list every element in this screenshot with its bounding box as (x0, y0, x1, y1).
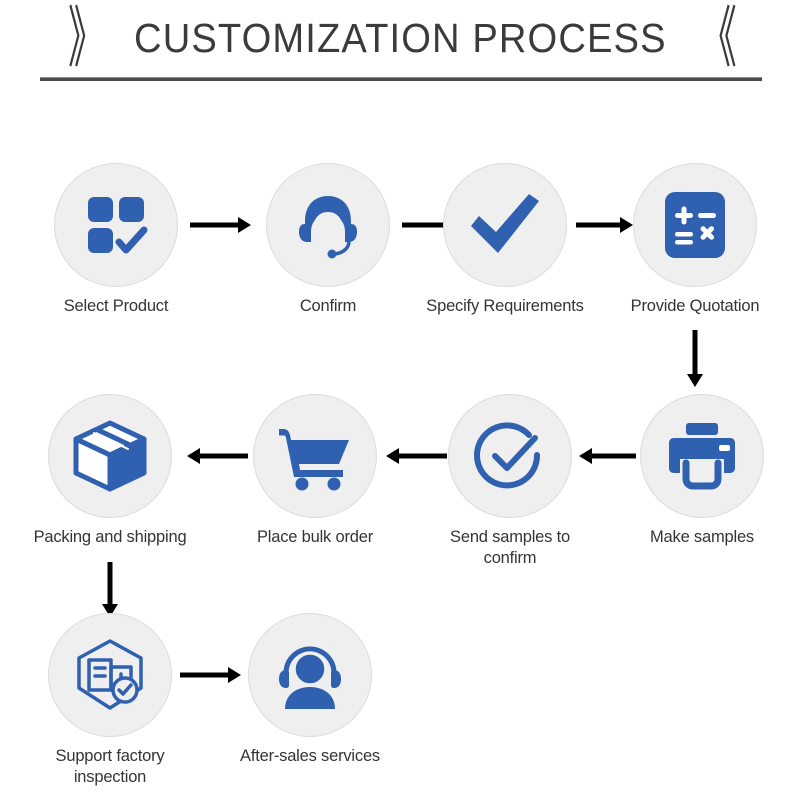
step-label: Support factory inspection (30, 746, 190, 787)
step-icon-circle (253, 394, 377, 518)
step-icon-circle (640, 394, 764, 518)
step-label: Send samples to confirm (430, 527, 590, 568)
double-chevron-right-icon: 》 (68, 5, 100, 72)
step-label: After-sales services (230, 746, 390, 767)
step-node-after-sales-services: After-sales services (230, 613, 390, 767)
step-icon-circle (48, 613, 172, 737)
step-label: Confirm (248, 296, 408, 317)
step-icon-circle (248, 613, 372, 737)
title-divider (40, 77, 762, 81)
page-header: 》 CUSTOMIZATION PROCESS 《 (0, 0, 800, 90)
step-node-confirm: Confirm (248, 163, 408, 317)
package-box-icon (72, 419, 148, 493)
step-node-make-samples: Make samples (622, 394, 782, 548)
step-node-send-samples-to-confirm: Send samples to confirm (430, 394, 590, 568)
shopping-cart-icon (277, 421, 353, 491)
connector-arrow-down (683, 330, 707, 388)
step-icon-circle (48, 394, 172, 518)
double-chevron-left-icon: 《 (700, 5, 732, 72)
step-icon-circle (54, 163, 178, 287)
step-node-select-product: Select Product (36, 163, 196, 317)
step-node-place-bulk-order: Place bulk order (235, 394, 395, 548)
calculator-icon (662, 189, 728, 261)
step-icon-circle (266, 163, 390, 287)
step-label: Provide Quotation (615, 296, 775, 317)
connector-arrow-right (190, 213, 252, 237)
step-icon-circle (443, 163, 567, 287)
step-node-packing-and-shipping: Packing and shipping (30, 394, 190, 548)
support-person-headphones-icon (272, 639, 348, 711)
step-icon-circle (448, 394, 572, 518)
step-label: Packing and shipping (30, 527, 190, 548)
step-node-provide-quotation: Provide Quotation (615, 163, 775, 317)
step-node-specify-requirements: Specify Requirements (425, 163, 585, 317)
circle-check-icon (473, 419, 547, 493)
page-title: CUSTOMIZATION PROCESS (134, 15, 667, 62)
headset-agent-icon (291, 188, 365, 262)
title-row: 》 CUSTOMIZATION PROCESS 《 (0, 8, 800, 68)
step-label: Make samples (622, 527, 782, 548)
connector-arrow-down (98, 562, 122, 618)
step-label: Specify Requirements (425, 296, 585, 317)
checkmark-icon (467, 190, 543, 260)
step-icon-circle (633, 163, 757, 287)
factory-shield-check-icon (73, 638, 147, 712)
printer-icon (664, 421, 740, 491)
grid-squares-check-icon (81, 190, 151, 260)
step-node-support-factory-inspection: Support factory inspection (30, 613, 190, 787)
step-label: Place bulk order (235, 527, 395, 548)
step-label: Select Product (36, 296, 196, 317)
